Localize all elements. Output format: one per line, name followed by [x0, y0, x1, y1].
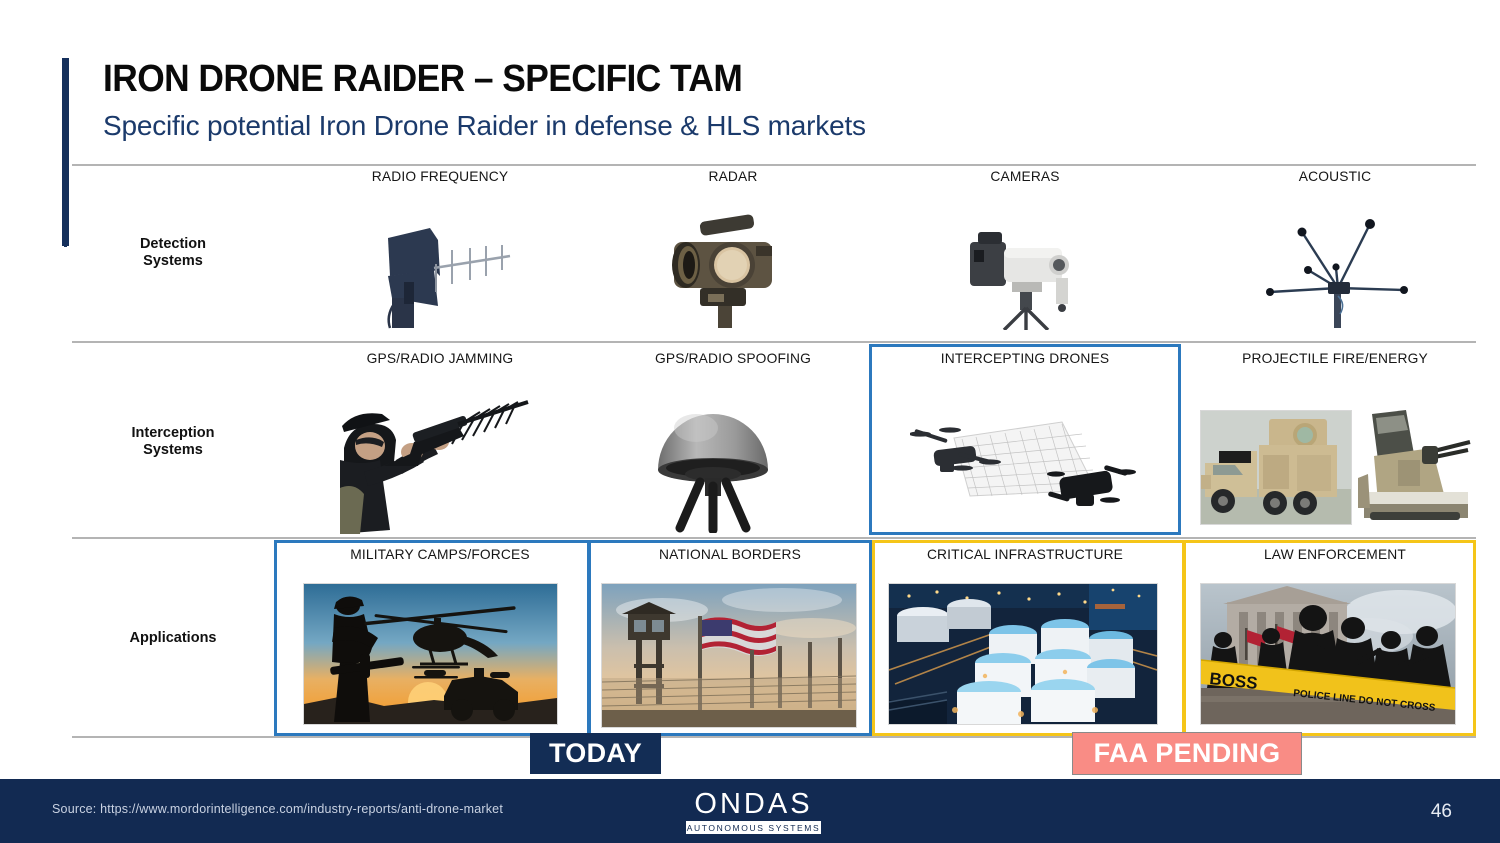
acoustic-array-icon — [1262, 210, 1412, 330]
jammer-gun-icon — [340, 396, 540, 534]
cell-title-critical-infrastructure: CRITICAL INFRASTRUCTURE — [899, 547, 1151, 562]
page-subtitle: Specific potential Iron Drone Raider in … — [103, 110, 866, 142]
cell-title-radio-frequency: RADIO FREQUENCY — [314, 169, 566, 184]
row-label-detection-line2: Systems — [88, 253, 258, 270]
police-line-photo: BOSS POLICE LINE DO NOT CROSS — [1200, 583, 1456, 725]
cell-title-cameras: CAMERAS — [899, 169, 1151, 184]
aaa-gun-system-icon — [1358, 408, 1476, 526]
row-label-detection-line1: Detection — [88, 236, 258, 253]
cell-title-intercepting-drones: INTERCEPTING DRONES — [899, 351, 1151, 366]
footer-source-text: Source: https://www.mordorintelligence.c… — [52, 802, 503, 816]
laser-truck-icon — [1200, 410, 1352, 525]
row-label-interception-line1: Interception — [88, 425, 258, 442]
row-label-detection: Detection Systems — [88, 236, 258, 270]
ondas-logo-wordmark: ONDAS — [686, 789, 821, 819]
slide-canvas: IRON DRONE RAIDER – SPECIFIC TAM Specifi… — [0, 0, 1500, 843]
cell-title-gps-radio-jamming: GPS/RADIO JAMMING — [314, 351, 566, 366]
cell-title-acoustic: ACOUSTIC — [1209, 169, 1461, 184]
cell-title-gps-radio-spoofing: GPS/RADIO SPOOFING — [607, 351, 859, 366]
ondas-logo-tagline: AUTONOMOUS SYSTEMS — [686, 821, 821, 834]
row-label-interception: Interception Systems — [88, 425, 258, 459]
ondas-logo: ONDAS AUTONOMOUS SYSTEMS — [686, 789, 821, 834]
legend-badge-today[interactable]: TODAY — [530, 733, 661, 774]
net-drone-icon — [910, 412, 1140, 522]
row-divider-detection — [72, 341, 1476, 343]
page-title: IRON DRONE RAIDER – SPECIFIC TAM — [103, 58, 742, 101]
row-divider-interception — [72, 537, 1476, 539]
slide-footer: Source: https://www.mordorintelligence.c… — [0, 779, 1500, 843]
border-fence-photo — [601, 583, 857, 728]
cell-title-projectile-fire-energy: PROJECTILE FIRE/ENERGY — [1209, 351, 1461, 366]
cell-title-law-enforcement: LAW ENFORCEMENT — [1209, 547, 1461, 562]
radar-dish-icon — [660, 212, 790, 330]
rf-antenna-icon — [378, 212, 518, 330]
cell-title-national-borders: NATIONAL BORDERS — [604, 547, 856, 562]
title-accent-bar-lower — [64, 125, 67, 247]
legend-badge-faa-pending[interactable]: FAA PENDING — [1072, 732, 1302, 775]
eo-camera-icon — [960, 218, 1090, 330]
dome-antenna-icon — [648, 398, 778, 533]
row-label-applications-line1: Applications — [88, 630, 258, 647]
row-label-applications: Applications — [88, 630, 258, 647]
cell-title-military-camps-forces: MILITARY CAMPS/FORCES — [314, 547, 566, 562]
page-number: 46 — [1431, 801, 1452, 823]
oil-tank-farm-photo — [888, 583, 1158, 725]
cell-title-radar: RADAR — [607, 169, 859, 184]
military-sunset-photo — [303, 583, 558, 725]
row-label-interception-line2: Systems — [88, 442, 258, 459]
row-divider-top — [72, 164, 1476, 166]
